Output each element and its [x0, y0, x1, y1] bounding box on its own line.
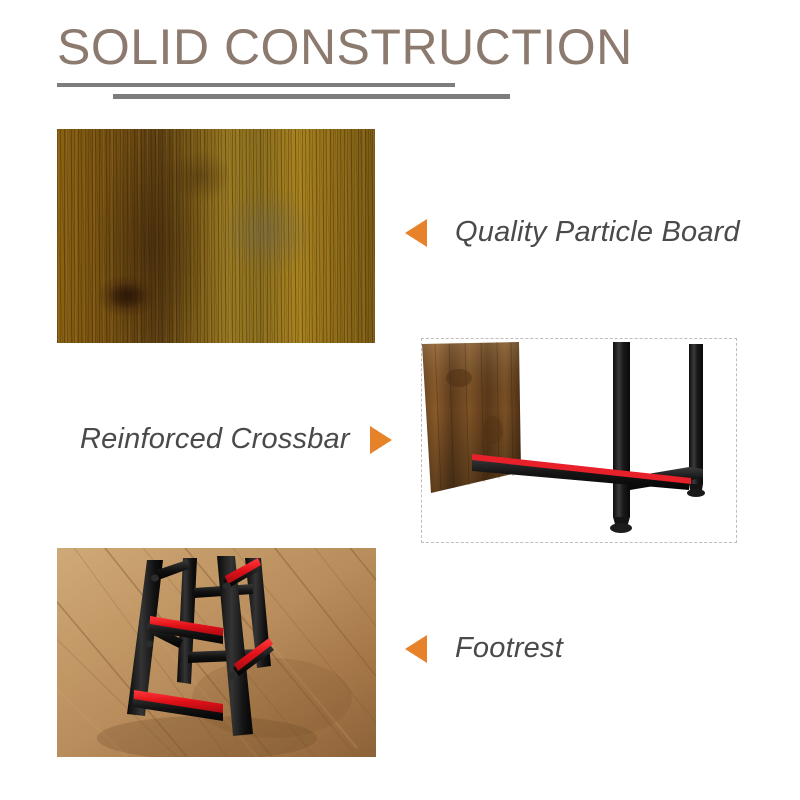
callout-label-quality-particle-board: Quality Particle Board	[455, 216, 740, 249]
callout-reinforced-crossbar: Reinforced Crossbar	[80, 423, 392, 456]
page-title: SOLID CONSTRUCTION	[57, 22, 633, 72]
callout-label-footrest: Footrest	[455, 632, 563, 665]
stool-illustration	[57, 548, 376, 757]
callout-quality-particle-board: Quality Particle Board	[405, 216, 740, 249]
title-underline-primary	[57, 83, 455, 87]
table-base-illustration	[421, 338, 737, 543]
title-underline-secondary	[113, 94, 510, 99]
callout-footrest: Footrest	[405, 632, 563, 665]
callout-label-reinforced-crossbar: Reinforced Crossbar	[80, 423, 350, 456]
triangle-left-icon	[405, 219, 427, 247]
triangle-left-icon	[405, 635, 427, 663]
table-base-crossbar-image	[421, 338, 737, 543]
triangle-right-icon	[370, 426, 392, 454]
stool-footrest-image	[57, 548, 376, 757]
table-leg-front	[610, 342, 632, 533]
infographic-page: SOLID CONSTRUCTION Quality Particle Boar…	[0, 0, 800, 800]
wood-grain-swatch-image	[57, 129, 375, 343]
